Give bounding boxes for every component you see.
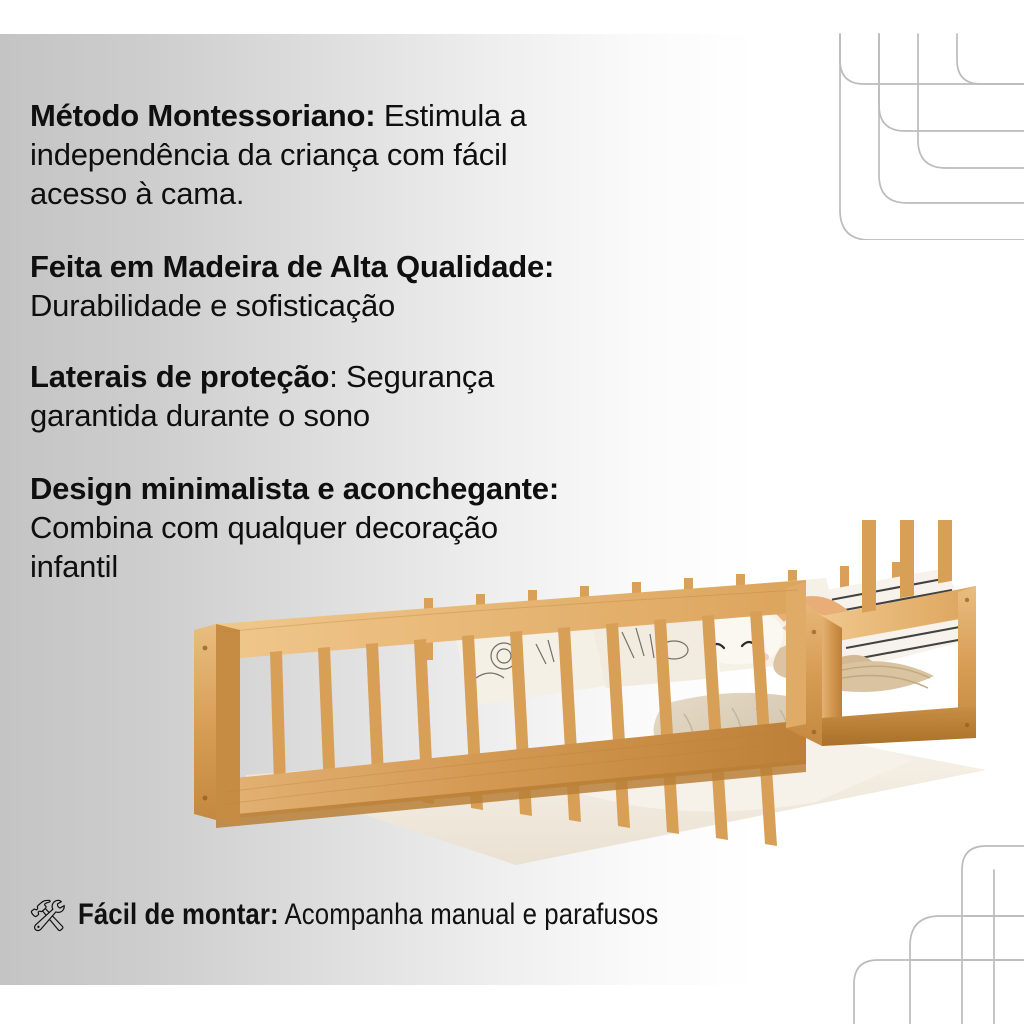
feature-line: Laterais de proteção: Segurança <box>30 357 730 396</box>
feature-text: independência da criança com fácil <box>30 137 507 172</box>
easy-assembly-rest: Acompanha manual e parafusos <box>279 898 659 931</box>
bed-left-end-rail <box>194 624 240 826</box>
feature-text: garantida durante o sono <box>30 398 370 433</box>
feature-bold: Laterais de proteção <box>30 359 329 394</box>
easy-assembly-text: Fácil de montar: Acompanha manual e para… <box>78 898 658 932</box>
feature-text: acesso à cama. <box>30 176 244 211</box>
spacer <box>30 441 730 469</box>
easy-assembly-bold: Fácil de montar: <box>78 898 279 931</box>
feature-list: Método Montessoriano: Estimula a indepen… <box>30 96 730 592</box>
feature-text: Combina com qualquer decoração <box>30 510 498 545</box>
feature-text: : Segurança <box>329 359 494 394</box>
feature-laterais-de-protecao: Laterais de proteção: Segurança garantid… <box>30 357 730 435</box>
feature-line: garantida durante o sono <box>30 396 730 435</box>
feature-text: Durabilidade e sofisticação <box>30 288 395 323</box>
feature-madeira-alta-qualidade: Feita em Madeira de Alta Qualidade: Dura… <box>30 247 730 325</box>
feature-bold: Feita em Madeira de Alta Qualidade: <box>30 249 554 284</box>
feature-line: Durabilidade e sofisticação <box>30 286 730 325</box>
spacer <box>30 219 730 247</box>
feature-metodo-montessoriano: Método Montessoriano: Estimula a indepen… <box>30 96 730 213</box>
feature-design-minimalista: Design minimalista e aconchegante: Combi… <box>30 469 730 586</box>
feature-text: infantil <box>30 549 118 584</box>
hammer-and-wrench-icon: 🛠 <box>28 900 67 931</box>
feature-text: Estimula a <box>375 98 526 133</box>
infographic-canvas: Método Montessoriano: Estimula a indepen… <box>0 0 1024 1024</box>
feature-line: infantil <box>30 547 730 586</box>
feature-line: Feita em Madeira de Alta Qualidade: <box>30 247 730 286</box>
feature-bold: Método Montessoriano: <box>30 98 375 133</box>
feature-line: independência da criança com fácil <box>30 135 730 174</box>
feature-bold: Design minimalista e aconchegante: <box>30 471 559 506</box>
feature-line: Combina com qualquer decoração <box>30 508 730 547</box>
easy-assembly-note: 🛠 Fácil de montar: Acompanha manual e pa… <box>28 898 753 932</box>
feature-line: acesso à cama. <box>30 174 730 213</box>
feature-line: Método Montessoriano: Estimula a <box>30 96 730 135</box>
spacer <box>30 331 730 357</box>
feature-line: Design minimalista e aconchegante: <box>30 469 730 508</box>
